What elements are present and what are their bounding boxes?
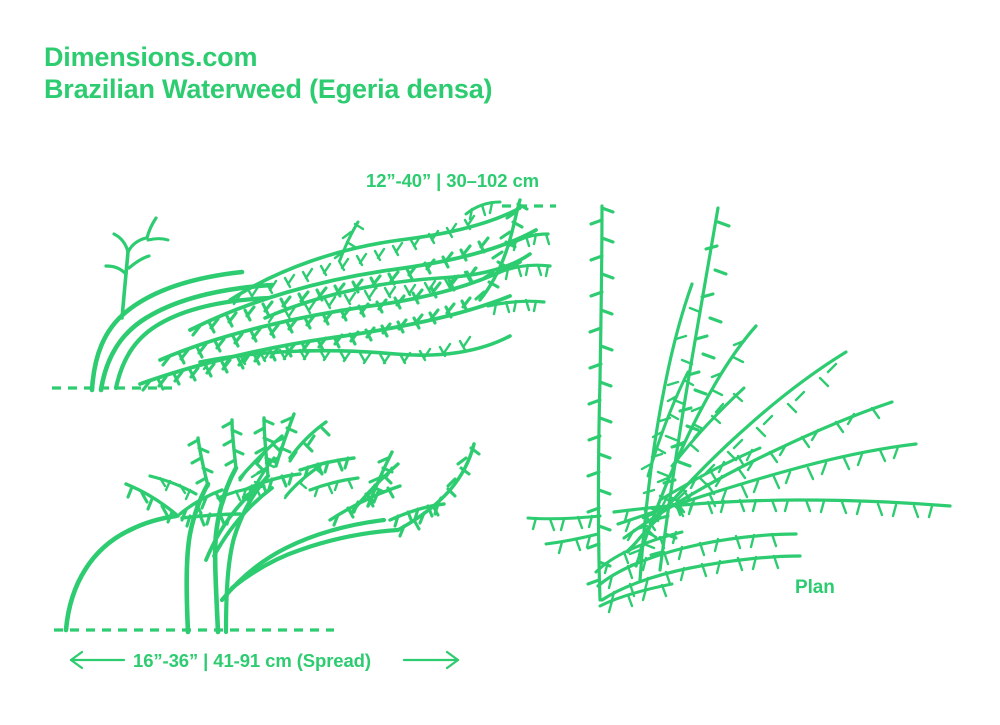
plant-illustration [0,0,1000,725]
plan-view [528,206,950,612]
plan-radiating-stems [528,206,950,600]
elevation-view-top [92,200,550,390]
elevation-view-bottom [66,414,479,632]
drawing-canvas: Dimensions.com Brazilian Waterweed (Eger… [0,0,1000,725]
plan-base-cluster [596,532,800,612]
bottom-elevation-foliage [126,414,479,536]
spread-dimension-arrow [71,652,458,668]
